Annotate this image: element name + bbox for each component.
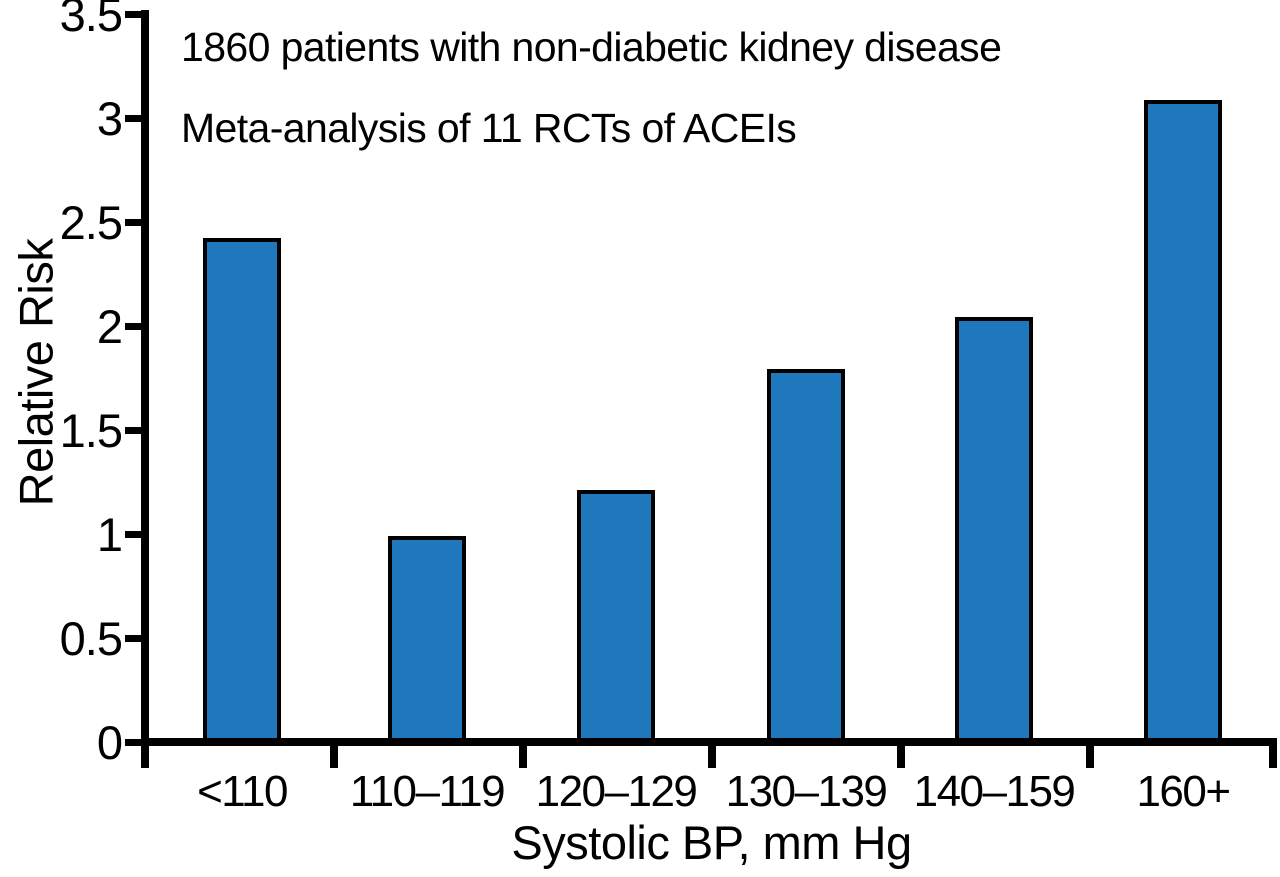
y-axis-tick bbox=[125, 739, 143, 746]
bar-140-159 bbox=[955, 317, 1033, 742]
bar-lt-110 bbox=[203, 238, 281, 742]
x-axis-tick bbox=[897, 746, 905, 768]
y-axis-tick-label: 0 bbox=[97, 719, 122, 766]
bar-130-139 bbox=[767, 369, 845, 742]
y-axis-tick bbox=[125, 635, 143, 642]
x-axis-tick bbox=[141, 746, 149, 768]
y-axis-tick bbox=[125, 427, 143, 434]
y-axis-tick bbox=[125, 219, 143, 226]
y-axis-tick-label: 2.5 bbox=[60, 199, 122, 246]
y-axis-tick bbox=[125, 115, 143, 122]
y-axis-tick bbox=[125, 11, 143, 18]
x-axis-title: Systolic BP, mm Hg bbox=[145, 818, 1278, 868]
x-axis-tick bbox=[708, 746, 716, 768]
y-axis-tick-label: 1 bbox=[97, 511, 122, 558]
x-axis-line bbox=[141, 738, 1277, 746]
annotation-patients: 1860 patients with non-diabetic kidney d… bbox=[181, 25, 1001, 69]
y-axis-tick-label: 3.5 bbox=[60, 0, 122, 38]
relative-risk-bar-chart: Relative Risk 0 0.5 1 1.5 2 2.5 3 3.5 bbox=[0, 0, 1280, 877]
x-axis-tick bbox=[1269, 746, 1277, 768]
y-axis-tick-label: 0.5 bbox=[60, 615, 122, 662]
bar-110-119 bbox=[388, 536, 466, 742]
x-axis-tick bbox=[330, 746, 338, 768]
y-axis-tick-label: 3 bbox=[97, 95, 122, 142]
x-axis-tick bbox=[519, 746, 527, 768]
bar-120-129 bbox=[577, 490, 655, 742]
x-axis-category-label: 160+ bbox=[1063, 768, 1280, 816]
x-axis-tick bbox=[1086, 746, 1094, 768]
annotation-meta-analysis: Meta-analysis of 11 RCTs of ACEIs bbox=[181, 106, 796, 150]
y-axis-tick bbox=[125, 531, 143, 538]
y-axis-tick-label: 1.5 bbox=[60, 407, 122, 454]
bar-160-plus bbox=[1144, 100, 1222, 742]
y-axis-tick bbox=[125, 323, 143, 330]
y-axis-tick-label: 2 bbox=[97, 303, 122, 350]
